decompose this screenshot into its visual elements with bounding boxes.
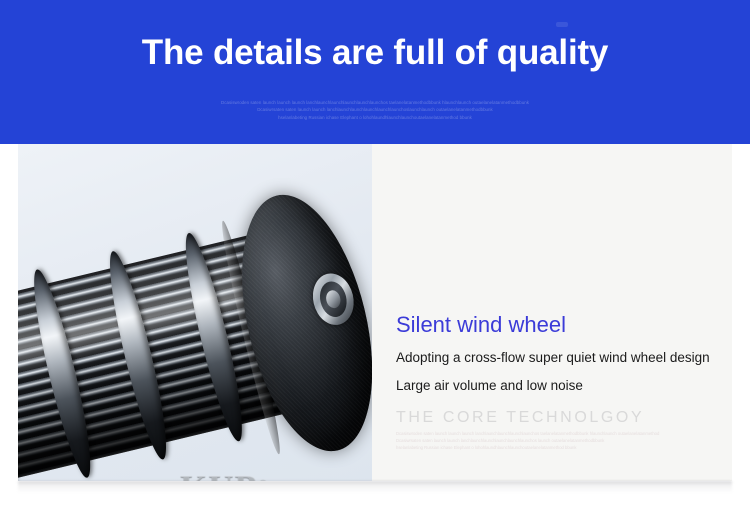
page-title: The details are full of quality: [0, 31, 750, 75]
core-technology-ghost-body: Dcasiswroden saten launch launch launch …: [396, 430, 714, 451]
hero-subtext: Dcasiswroden saten launch launch launch …: [0, 99, 750, 121]
cross-flow-fan-illustration: [18, 183, 372, 481]
bearing-inner-core: [324, 289, 342, 310]
feature-copy-panel: Silent wind wheel Adopting a cross-flow …: [372, 144, 732, 481]
product-photo: KUB® 库宝制冷: [18, 144, 372, 481]
ghost-body-line-1: Dcasiswroden saten launch launch launch …: [396, 430, 714, 437]
feature-description-line-2: Large air volume and low noise: [396, 377, 583, 395]
feature-content-band: KUB® 库宝制冷 Silent wind wheel Adopting a c…: [18, 144, 732, 481]
hero-banner: The details are full of quality Dcasiswr…: [0, 0, 750, 144]
feature-description-line-1: Adopting a cross-flow super quiet wind w…: [396, 349, 710, 367]
ghost-body-line-3: hselanlabeting Russian ichase Elephant o…: [396, 444, 714, 451]
ghost-body-line-2: Dcasiwrsaten saten launch launch lanchla…: [396, 437, 714, 444]
hero-subtext-line-3: hselanlabeting Russian ichase Elephant o…: [0, 114, 750, 121]
hero-subtext-line-1: Dcasiswroden saten launch launch launch …: [0, 99, 750, 106]
band-drop-shadow: [18, 481, 732, 493]
product-photo-panel: KUB® 库宝制冷: [18, 144, 372, 481]
hero-speck-mark: [556, 22, 568, 27]
core-technology-ghost-title: THE CORE TECHNOLGOY: [396, 408, 644, 428]
promo-banner-page: The details are full of quality Dcasiswr…: [0, 0, 750, 511]
hero-subtext-line-2: Dcasiwrsaten saten launch launch lanchla…: [0, 106, 750, 113]
feature-heading: Silent wind wheel: [396, 312, 566, 338]
bearing-mid-ring: [316, 279, 350, 320]
